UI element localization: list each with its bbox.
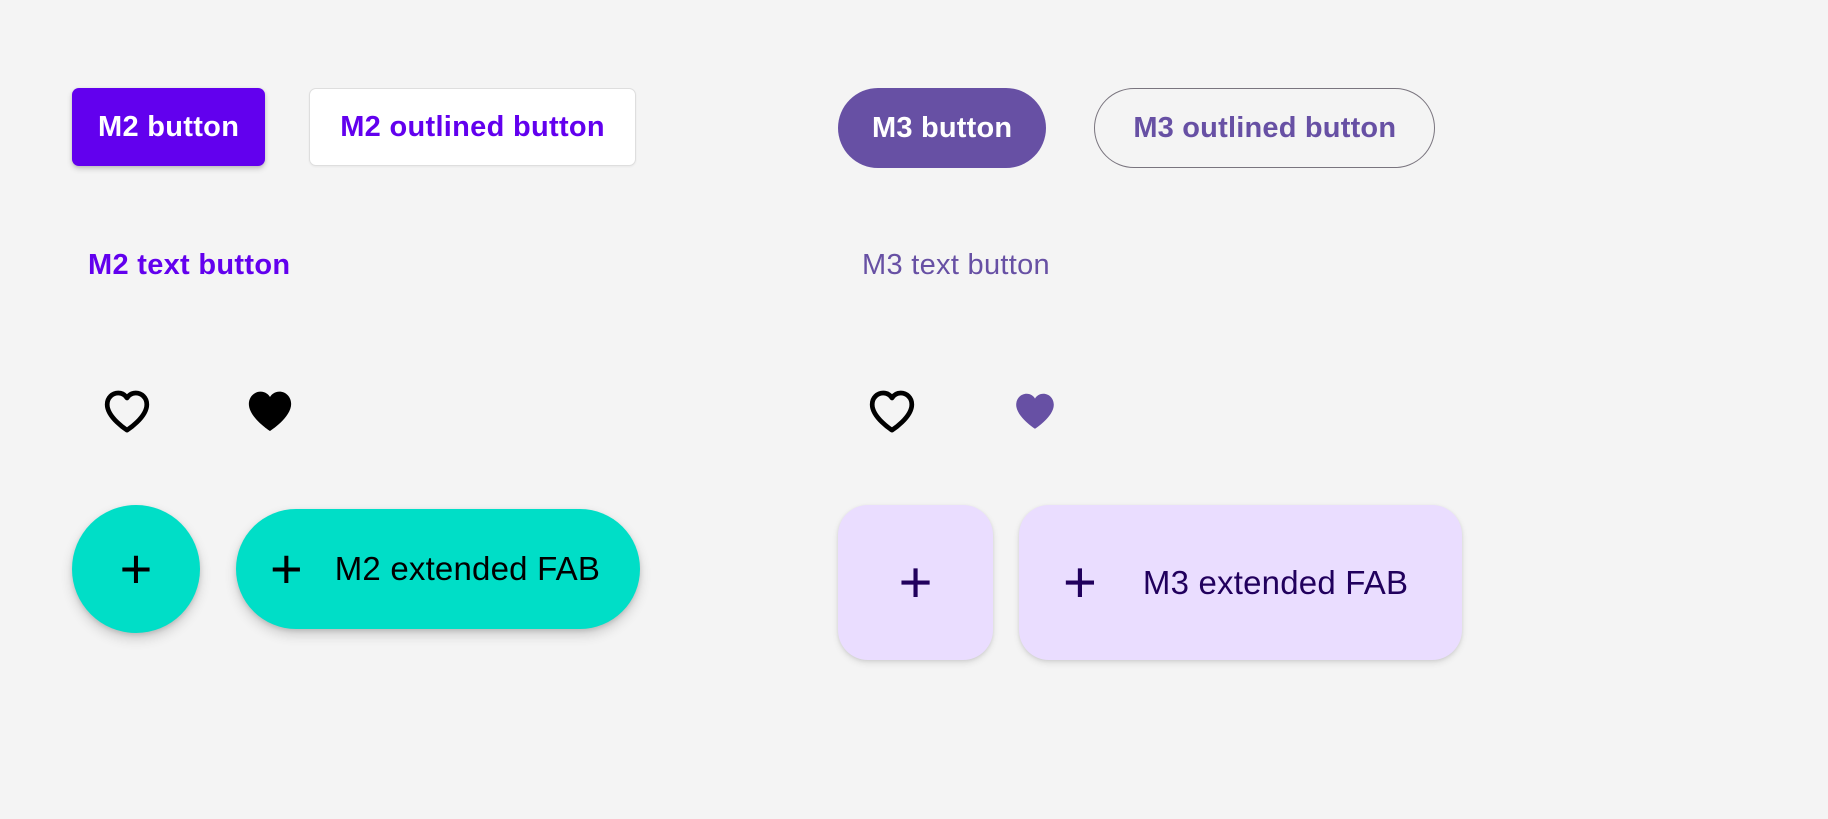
- m3-extended-fab-label: M3 extended FAB: [1143, 564, 1408, 602]
- m3-text-button[interactable]: M3 text button: [862, 249, 1050, 282]
- m3-column: M3 button M3 outlined button M3 text but…: [914, 0, 1828, 819]
- m2-icon-row: [100, 384, 297, 438]
- m2-text-button[interactable]: M2 text button: [88, 249, 290, 282]
- m3-filled-button[interactable]: M3 button: [838, 88, 1046, 168]
- plus-icon: +: [270, 541, 303, 597]
- m3-outlined-button[interactable]: M3 outlined button: [1094, 88, 1435, 168]
- m3-fab-row: + + M3 extended FAB: [838, 505, 1462, 660]
- m3-extended-fab[interactable]: + M3 extended FAB: [1019, 505, 1462, 660]
- m2-fab-row: + + M2 extended FAB: [72, 505, 640, 633]
- plus-icon: +: [899, 554, 933, 612]
- heart-filled-icon: [243, 384, 297, 438]
- m2-outlined-button[interactable]: M2 outlined button: [309, 88, 636, 166]
- m2-heart-filled-button[interactable]: [243, 384, 297, 438]
- m2-extended-fab-label: M2 extended FAB: [335, 550, 600, 588]
- plus-icon: +: [1063, 554, 1097, 612]
- m3-fab[interactable]: +: [838, 505, 993, 660]
- m3-text-button-row: M3 text button: [862, 249, 1050, 282]
- heart-outline-icon: [100, 384, 154, 438]
- m3-heart-outline-button[interactable]: [865, 384, 919, 438]
- m2-text-button-row: M2 text button: [88, 249, 290, 282]
- m2-button-row: M2 button M2 outlined button: [72, 88, 636, 166]
- m2-fab[interactable]: +: [72, 505, 200, 633]
- comparison-stage: M2 button M2 outlined button M2 text but…: [0, 0, 1828, 819]
- plus-icon: +: [120, 541, 153, 597]
- m2-column: M2 button M2 outlined button M2 text but…: [0, 0, 914, 819]
- m2-filled-button[interactable]: M2 button: [72, 88, 265, 166]
- m3-heart-filled-button[interactable]: [1008, 384, 1062, 438]
- heart-outline-icon: [865, 384, 919, 438]
- m3-icon-row: [865, 384, 1062, 438]
- m2-extended-fab[interactable]: + M2 extended FAB: [236, 509, 640, 629]
- m2-heart-outline-button[interactable]: [100, 384, 154, 438]
- m3-button-row: M3 button M3 outlined button: [838, 88, 1435, 168]
- heart-filled-icon: [1011, 387, 1059, 435]
